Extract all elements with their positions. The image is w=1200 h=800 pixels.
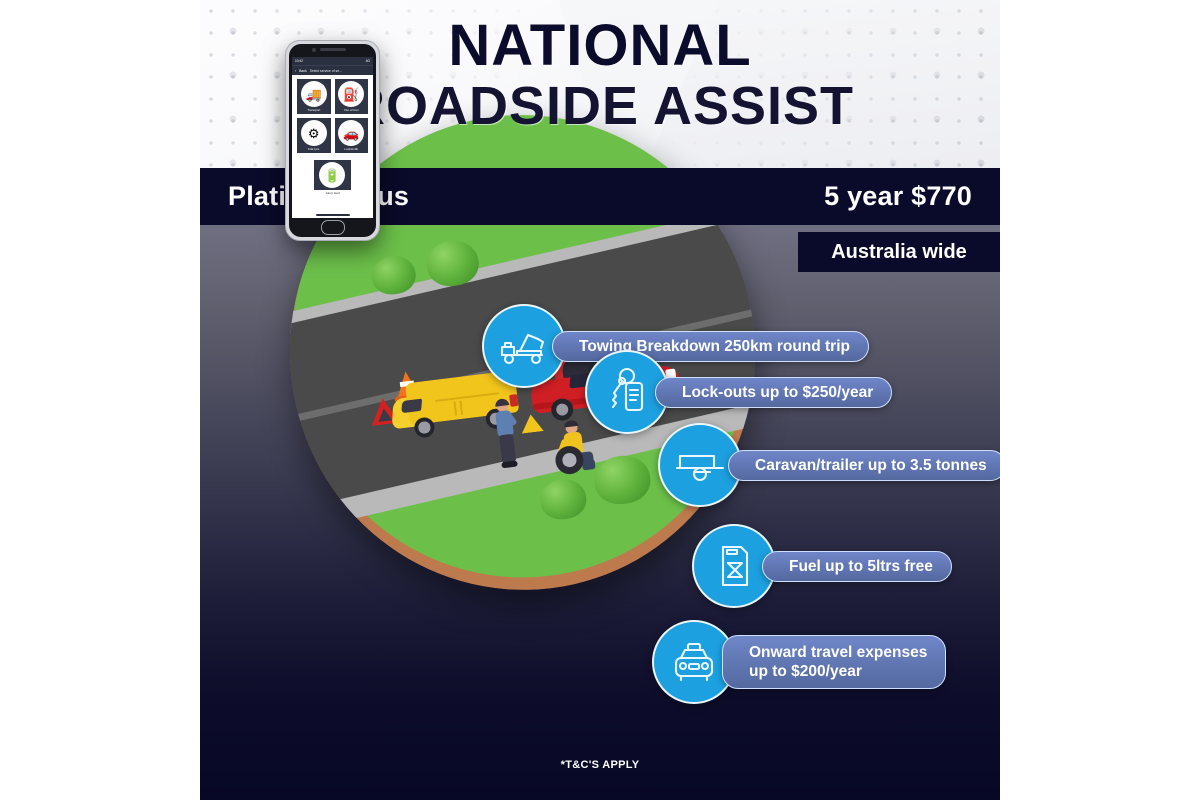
- feature-lockouts-label: Lock-outs up to $250/year: [655, 377, 892, 408]
- status-signal: 4G: [366, 57, 370, 65]
- smartphone-mockup: 10:42 4G ‹ Back Select service of se... …: [285, 40, 380, 241]
- service-tile-out-of-fuel[interactable]: ⛽ Out of fuel: [335, 79, 369, 114]
- service-tile-label: Locksmith: [344, 147, 358, 151]
- feature-onward-travel-label: Onward travel expenses up to $200/year: [722, 635, 946, 689]
- feature-onward-travel-line2: up to $200/year: [749, 663, 862, 680]
- phone-camera-icon: [312, 48, 316, 52]
- battery-icon: 🔋: [319, 162, 345, 188]
- back-chevron-icon[interactable]: ‹: [295, 69, 296, 73]
- app-screen-title: Select service of se...: [310, 69, 342, 73]
- locksmith-icon: 🚗: [338, 120, 364, 146]
- service-tile-grid: 🚚 Transport ⛽ Out of fuel ⚙ Flat tyre 🚗 …: [292, 75, 373, 157]
- service-tile-transport[interactable]: 🚚 Transport: [297, 79, 331, 114]
- tyre-icon: ⚙: [301, 120, 327, 146]
- feature-onward-travel-line1: Onward travel expenses: [749, 644, 927, 661]
- status-time: 10:42: [295, 57, 303, 65]
- app-nav-bar[interactable]: ‹ Back Select service of se...: [292, 65, 373, 75]
- terms-and-conditions-note: *T&C'S APPLY: [200, 759, 1000, 771]
- phone-status-bar: 10:42 4G: [292, 57, 373, 65]
- fuel-pump-icon: ⛽: [338, 81, 364, 107]
- service-tile-row-last: 🔋: [292, 160, 373, 190]
- service-tile-locksmith[interactable]: 🚗 Locksmith: [335, 118, 369, 153]
- coverage-badge-label: Australia wide: [831, 241, 967, 264]
- phone-earpiece: [320, 48, 346, 51]
- feature-onward-travel: Onward travel expenses up to $200/year: [652, 620, 946, 704]
- service-tile-label: Flat tyre: [308, 147, 319, 151]
- phone-home-indicator: [316, 214, 350, 216]
- phone-screen: 10:42 4G ‹ Back Select service of se... …: [292, 57, 373, 218]
- service-tile-label: Jump start: [292, 191, 373, 195]
- feature-caravan: Caravan/trailer up to 3.5 tonnes: [658, 423, 1000, 507]
- tow-truck-icon: 🚚: [301, 81, 327, 107]
- feature-fuel: Fuel up to 5ltrs free: [692, 524, 952, 608]
- service-tile-jump-start[interactable]: 🔋: [314, 160, 350, 190]
- poster: NATIONAL ROADSIDE ASSIST Platinum Plus 5…: [200, 0, 1000, 800]
- back-label[interactable]: Back: [299, 69, 307, 73]
- service-tile-flat-tyre[interactable]: ⚙ Flat tyre: [297, 118, 331, 153]
- poster-canvas: NATIONAL ROADSIDE ASSIST Platinum Plus 5…: [0, 0, 1200, 800]
- service-tile-label: Transport: [307, 108, 320, 112]
- feature-fuel-label: Fuel up to 5ltrs free: [762, 551, 952, 582]
- feature-lockouts: Lock-outs up to $250/year: [585, 350, 892, 434]
- service-tile-label: Out of fuel: [344, 108, 358, 112]
- phone-home-button[interactable]: [321, 220, 345, 235]
- coverage-badge: Australia wide: [798, 232, 1000, 272]
- tier-price: 5 year $770: [824, 181, 972, 212]
- feature-caravan-label: Caravan/trailer up to 3.5 tonnes: [728, 450, 1000, 481]
